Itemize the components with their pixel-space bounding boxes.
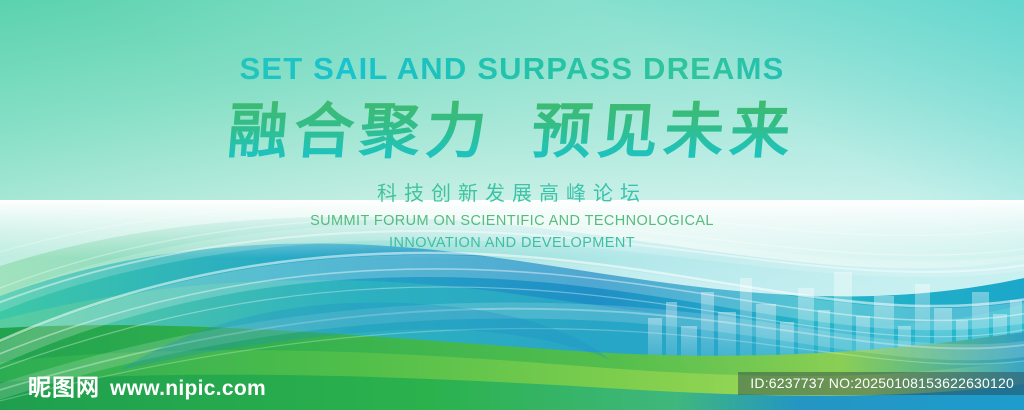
headline-chinese-right: 预见未来	[529, 97, 799, 167]
image-id-badge: ID:6237737 NO:20250108153622630120	[738, 372, 1024, 395]
subtitle-english-line1: SUMMIT FORUM ON SCIENTIFIC AND TECHNOLOG…	[0, 211, 1024, 233]
watermark-site-url: www.nipic.com	[110, 377, 266, 401]
conference-banner: SET SAIL AND SURPASS DREAMS 融合聚力预见未来 科技创…	[0, 0, 1024, 410]
subtitle-chinese: 科技创新发展高峰论坛	[0, 177, 1024, 206]
subtitle-english-line2: INNOVATION AND DEVELOPMENT	[0, 233, 1024, 255]
banner-text-block: SET SAIL AND SURPASS DREAMS 融合聚力预见未来 科技创…	[0, 52, 1024, 255]
subtitle-english: SUMMIT FORUM ON SCIENTIFIC AND TECHNOLOG…	[0, 211, 1024, 255]
headline-chinese: 融合聚力预见未来	[0, 98, 1024, 167]
headline-english: SET SAIL AND SURPASS DREAMS	[0, 52, 1024, 86]
watermark: 昵图网 www.nipic.com	[28, 368, 266, 402]
headline-chinese-left: 融合聚力	[225, 97, 495, 167]
watermark-site-name: 昵图网	[28, 368, 100, 402]
